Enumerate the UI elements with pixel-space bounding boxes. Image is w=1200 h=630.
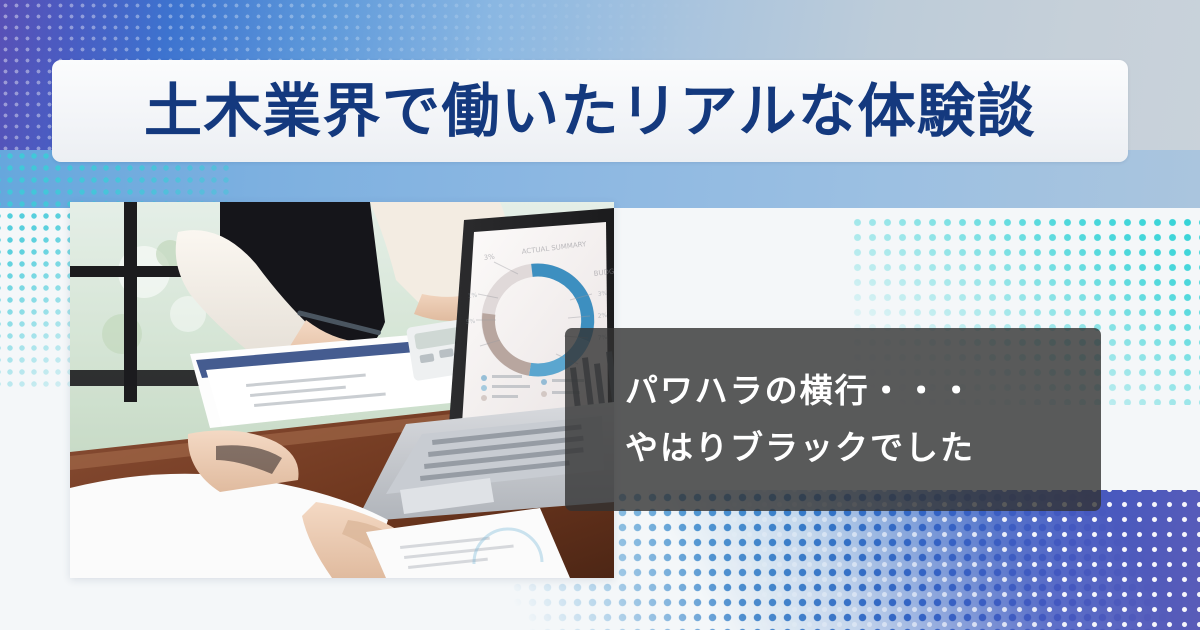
hero-photo-illustration: ACTUAL SUMMARY 3% BUDGET 3% 2% 7% 1% 5%: [70, 202, 614, 578]
svg-text:5%: 5%: [465, 318, 476, 326]
eyecatch-banner: 土木業界で働いたリアルな体験談: [0, 0, 1200, 630]
svg-text:2%: 2%: [597, 312, 608, 320]
caption-line-2: やはりブラックでした: [625, 420, 1101, 477]
page-title: 土木業界で働いたリアルな体験談: [144, 82, 1036, 140]
svg-text:1%: 1%: [467, 292, 478, 300]
svg-text:3%: 3%: [483, 253, 495, 262]
caption-line-1: パワハラの横行・・・: [625, 363, 1101, 420]
caption-box: パワハラの横行・・・ やはりブラックでした: [565, 328, 1101, 511]
hero-photo: ACTUAL SUMMARY 3% BUDGET 3% 2% 7% 1% 5%: [70, 202, 614, 578]
svg-text:3%: 3%: [597, 290, 608, 298]
title-bar: 土木業界で働いたリアルな体験談: [52, 60, 1128, 162]
